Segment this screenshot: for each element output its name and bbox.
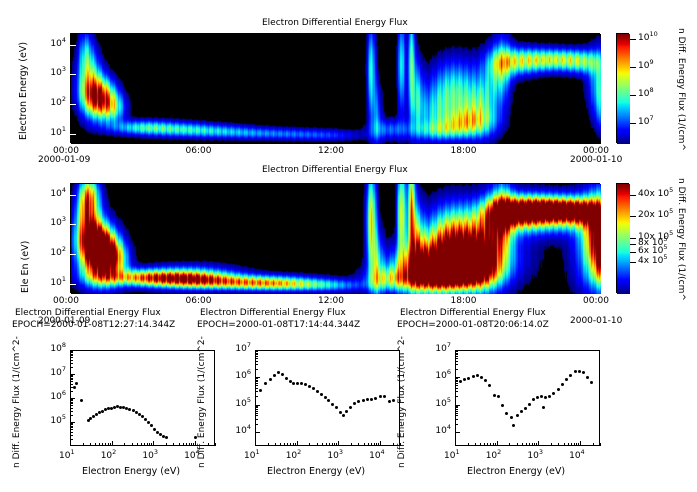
spectrum-1-ytick-minor xyxy=(255,409,258,410)
spectrum-2-ytick-minor xyxy=(455,396,458,397)
spectrum-1-point xyxy=(349,406,352,409)
spectrum-2-point xyxy=(505,412,508,415)
spectrum-2-point xyxy=(582,371,585,374)
spectrum-1-point xyxy=(362,399,365,402)
spectrum-1-xtick-minor xyxy=(268,443,269,446)
spectrum-2-xtick-0: 101 xyxy=(444,451,460,461)
spectrum-2-point xyxy=(488,384,491,387)
spectrum-2-point xyxy=(484,379,487,382)
spectrum-0-ytick-minor xyxy=(70,400,73,401)
panel-top-ytick-mark-1 xyxy=(70,74,76,75)
spectrum-0-xtick-minor xyxy=(102,443,103,446)
spectrum-0-xtick-minor xyxy=(83,443,84,446)
spectrum-2-xtick-mark-1 xyxy=(497,441,498,446)
spectrum-0-ytick-minor xyxy=(70,435,73,436)
spectrum-1-ytick-minor xyxy=(255,413,258,414)
spectrum-1-xtick-minor xyxy=(334,443,335,446)
spectrum-0-xtick-minor xyxy=(132,443,133,446)
panel-mid-cb-label-5: 4x 105 xyxy=(638,256,668,266)
panel-top-xtick-3: 18:00 xyxy=(451,146,477,156)
spectrum-2-xtick-mark-2 xyxy=(538,441,539,446)
spectrum-0-xtick-mark-2 xyxy=(153,441,154,446)
spectrum-0-point xyxy=(150,424,153,427)
spectrum-1-point xyxy=(331,403,334,406)
spectrum-0-ytick-2: 106 xyxy=(38,392,66,402)
spectrum-1-ytick-minor xyxy=(255,378,258,379)
panel-top-ytick-2: 102 xyxy=(40,98,66,108)
spectrum-1-ytick-minor xyxy=(255,385,258,386)
spectrum-2-ytick-minor xyxy=(455,424,458,425)
spectrum-1-point xyxy=(388,400,391,403)
spectrum-2-ytick-minor xyxy=(455,419,458,420)
panel-top-colorbar-label: n Diff. Energy Flux (1/(cm^ xyxy=(676,28,686,151)
spectrum-0-subtitle: EPOCH=2000-01-08T12:27:14.344Z xyxy=(12,320,175,330)
spectrum-2-ytick-minor xyxy=(455,354,458,355)
spectrum-0-xtick-2: 103 xyxy=(142,451,158,461)
spectrum-2-xtick-minor xyxy=(475,443,476,446)
spectrum-2-xtick-mark-3 xyxy=(580,441,581,446)
spectrum-1-ytick-0: 107 xyxy=(223,344,251,354)
panel-mid-xtick-2: 12:00 xyxy=(318,296,344,306)
spectrum-0-ytick-minor xyxy=(70,403,73,404)
spectrum-2-ytick-3: 104 xyxy=(423,426,451,436)
spectrum-1-point xyxy=(392,399,395,402)
spectrum-1-xtick-minor xyxy=(309,443,310,446)
panel-mid-cb-mark-4 xyxy=(630,252,636,253)
spectrum-0-xtick-minor xyxy=(141,443,142,446)
spectrum-0-point xyxy=(73,386,76,389)
spectrum-1-point xyxy=(292,382,295,385)
spectrum-0-xtick-minor xyxy=(110,443,111,446)
spectrum-0-ytick-1: 107 xyxy=(38,368,66,378)
spectrum-1-xtick-minor xyxy=(275,443,276,446)
spectrum-1-point xyxy=(304,383,307,386)
panel-mid-cb-mark-0 xyxy=(630,195,636,196)
spectrum-1-ytick-minor xyxy=(255,369,258,370)
spectrum-0-ytick-minor xyxy=(70,426,73,427)
spectrum-1-xtick-minor xyxy=(332,443,333,446)
spectrum-1-point xyxy=(277,371,280,374)
panel-top-ytick-mark-3 xyxy=(70,134,76,135)
spectrum-1-ytick-minor xyxy=(255,381,258,382)
spectrum-2-ytick-minor xyxy=(455,415,458,416)
spectrum-0-xtick-minor xyxy=(191,443,192,446)
spectrum-0-xtick-mark-3 xyxy=(195,441,196,446)
spectrum-2-xtick-minor xyxy=(532,443,533,446)
spectrum-2-xtick-minor xyxy=(495,443,496,446)
spectrum-0-xtick-minor xyxy=(166,443,167,446)
spectrum-2-point xyxy=(493,394,496,397)
spectrum-2-point xyxy=(565,378,568,381)
spectrum-2-point xyxy=(463,378,466,381)
spectrum-1-ytick-minor xyxy=(255,419,258,420)
spectrum-2-point xyxy=(501,404,504,407)
spectrum-1-ytick-minor xyxy=(255,353,258,354)
spectrum-2-xtick-minor xyxy=(551,443,552,446)
spectrum-1-point xyxy=(308,385,311,388)
spectrum-0-ytick-minor xyxy=(70,408,73,409)
spectrum-1-xtick-minor xyxy=(358,443,359,446)
spectrum-0-xtick-1: 102 xyxy=(101,451,117,461)
panel-mid-xtick-3: 18:00 xyxy=(451,296,477,306)
spectrum-1-xtick-minor xyxy=(351,443,352,446)
spectrum-1-ytick-mark-3 xyxy=(255,432,260,433)
spectrum-0-ytick-minor xyxy=(70,411,73,412)
spectrum-2-ytick-minor xyxy=(455,369,458,370)
spectrum-2-xtick-minor xyxy=(574,443,575,446)
spectrum-0-ytick-minor xyxy=(70,376,73,377)
spectrum-2-xtick-minor xyxy=(487,443,488,446)
spectrum-0-xtick-minor xyxy=(186,443,187,446)
spectrum-1-xtick-minor xyxy=(374,443,375,446)
spectrum-2-xtick-minor xyxy=(558,443,559,446)
spectrum-2-point xyxy=(528,403,531,406)
spectrum-2-point xyxy=(552,392,555,395)
spectrum-0-xtick-minor xyxy=(137,443,138,446)
spectrum-1-point xyxy=(327,399,330,402)
spectrum-2-plot-area xyxy=(455,350,600,446)
spectrum-0-xlabel: Electron Energy (eV) xyxy=(82,466,180,477)
spectrum-2-ytick-minor xyxy=(455,388,458,389)
panel-top-cb-label-0: 1010 xyxy=(638,33,658,43)
spectrum-2-point xyxy=(512,424,515,427)
panel-mid-cb-mark-3 xyxy=(630,244,636,245)
spectrum-2-ytick-minor xyxy=(455,409,458,410)
spectrum-1-ytick-minor xyxy=(255,406,258,407)
spectrum-0-ytick-minor xyxy=(70,423,73,424)
spectrum-1-xtick-minor xyxy=(326,443,327,446)
panel-mid-xtick-0: 00:00 xyxy=(53,296,79,306)
spectrum-2-point xyxy=(590,381,593,384)
spectrum-2-point xyxy=(476,374,479,377)
panel-top-colorbar-label-wrap: n Diff. Energy Flux (1/(cm^ xyxy=(686,28,697,38)
spectrum-1-xtick-mark-2 xyxy=(338,441,339,446)
spectrum-2-xtick-minor xyxy=(529,443,530,446)
spectrum-0-ytick-minor xyxy=(70,415,73,416)
spectrum-1-point xyxy=(269,378,272,381)
spectrum-2-ytick-minor xyxy=(455,391,458,392)
spectrum-0-ytick-minor xyxy=(70,424,73,425)
spectrum-1-point xyxy=(281,373,284,376)
spectrum-1-xtick-minor xyxy=(329,443,330,446)
panel-top-colorbar-gradient xyxy=(617,34,630,144)
spectrum-1-ytick-minor xyxy=(255,380,258,381)
spectrum-2-ytick-minor xyxy=(455,413,458,414)
spectrum-1-xtick-minor xyxy=(378,443,379,446)
spectrum-2-ytick-0: 107 xyxy=(423,344,451,354)
spectrum-2-xtick-minor xyxy=(484,443,485,446)
spectrum-0-xtick-minor xyxy=(90,443,91,446)
spectrum-0-ytick-minor xyxy=(70,379,73,380)
spectrum-2-xtick-mark-0 xyxy=(455,441,456,446)
spectrum-1-point xyxy=(366,398,369,401)
spectrum-1-xtick-minor xyxy=(284,443,285,446)
panel-mid-ytick-mark-1 xyxy=(70,224,76,225)
panel-mid: Electron Differential Energy Flux Ele En… xyxy=(0,165,697,320)
spectrum-0-ytick-minor xyxy=(70,391,73,392)
spectrum-1-title: Electron Differential Energy Flux xyxy=(200,308,346,318)
panel-top-cb-label-1: 109 xyxy=(638,61,654,71)
panel-mid-spectrogram xyxy=(71,184,601,294)
spectrum-0-ytick-minor xyxy=(70,360,73,361)
spectrum-1-ytick-minor xyxy=(255,354,258,355)
spectrum-2-point xyxy=(586,376,589,379)
panel-top-xdate-left: 2000-01-09 xyxy=(38,155,90,165)
spectrum-2-xtick-minor xyxy=(593,443,594,446)
spectrum-2-xtick-3: 104 xyxy=(569,451,585,461)
spectrum-1-ytick-1: 106 xyxy=(223,371,251,381)
spectrum-1-xtick-minor xyxy=(295,443,296,446)
panel-top-title: Electron Differential Energy Flux xyxy=(262,18,408,28)
spectrum-0-xtick-mark-1 xyxy=(112,441,113,446)
spectrum-0-xtick-minor xyxy=(173,443,174,446)
spectrum-2-ytick-minor xyxy=(455,411,458,412)
spectrum-2-ytick-minor xyxy=(455,380,458,381)
spectrum-1-ytick-minor xyxy=(255,351,258,352)
spectrum-1-xtick-1: 102 xyxy=(286,451,302,461)
spectrum-2-ytick-minor xyxy=(455,378,458,379)
panel-top-cb-label-2: 108 xyxy=(638,89,654,99)
spectrum-0-ytick-minor xyxy=(70,405,73,406)
spectrum-2-point xyxy=(510,416,513,419)
panel-mid-ytick-mark-0 xyxy=(70,195,76,196)
spectrum-0-ytick-minor xyxy=(70,427,73,428)
panel-mid-cb-label-1: 20x 105 xyxy=(638,210,673,220)
spectrum-2-ytick-minor xyxy=(455,407,458,408)
spectrum-1-point xyxy=(374,397,377,400)
spectrum-1-point xyxy=(342,414,345,417)
spectrum-2-point xyxy=(516,414,519,417)
spectrum-1-xtick-minor xyxy=(371,443,372,446)
spectrum-0-ytick-minor xyxy=(70,402,73,403)
spectrum-0-ytick-minor xyxy=(70,355,73,356)
spectrum-0-xtick-minor xyxy=(124,443,125,446)
spectrum-1-point xyxy=(335,406,338,409)
panel-top-cb-mark-3 xyxy=(630,123,636,124)
spectrum-0-ytick-minor xyxy=(70,367,73,368)
spectrum-0-ytick-minor xyxy=(70,384,73,385)
spectrum-2-point xyxy=(524,407,527,410)
spectrum-0-xtick-minor xyxy=(215,443,216,446)
panel-top-ytick-3: 101 xyxy=(40,128,66,138)
spectrum-1-ytick-minor xyxy=(255,361,258,362)
panel-mid-xtick-1: 06:00 xyxy=(186,296,212,306)
spectrum-0-ytick-minor xyxy=(70,354,73,355)
spectrum-0-ytick-minor xyxy=(70,399,73,400)
spectrum-0-point xyxy=(165,436,168,439)
spectrum-2-xtick-2: 103 xyxy=(527,451,543,461)
spectrum-0-xtick-minor xyxy=(95,443,96,446)
spectrum-0-xtick-minor xyxy=(147,443,148,446)
spectra-row: Electron Differential Energy FluxEPOCH=2… xyxy=(0,320,697,492)
spectrum-1-xtick-minor xyxy=(290,443,291,446)
spectrum-2-xtick-minor xyxy=(480,443,481,446)
spectrum-0-xtick-minor xyxy=(105,443,106,446)
panel-top-ytick-1: 103 xyxy=(40,68,66,78)
spectrum-0-ytick-3: 105 xyxy=(38,416,66,426)
panel-top-xtick-2: 12:00 xyxy=(318,146,344,156)
panel-top-cb-label-3: 107 xyxy=(638,117,654,127)
spectrum-2-xtick-1: 102 xyxy=(486,451,502,461)
spectrum-2-subtitle: EPOCH=2000-01-08T20:06:14.0Z xyxy=(397,320,549,330)
spectrum-1-point xyxy=(345,410,348,413)
spectrum-2-ytick-1: 106 xyxy=(423,371,451,381)
panel-mid-plot-area xyxy=(70,183,600,293)
panel-top-ytick-mark-0 xyxy=(70,45,76,46)
spectrum-0-point xyxy=(147,421,150,424)
spectrum-2-point xyxy=(557,388,560,391)
panel-mid-colorbar-label-wrap: n Diff. Energy Flux (1/(cm^ xyxy=(686,178,697,188)
spectrum-2-xlabel: Electron Energy (eV) xyxy=(467,466,565,477)
spectrum-2-point xyxy=(532,398,535,401)
panel-mid-ytick-mark-3 xyxy=(70,284,76,285)
spectrum-1-xtick-minor xyxy=(336,443,337,446)
spectrum-2-title: Electron Differential Energy Flux xyxy=(400,308,546,318)
spectrum-0-xtick-minor xyxy=(144,443,145,446)
spectrum-1-point xyxy=(383,395,386,398)
spectrum-1-xtick-3: 104 xyxy=(369,451,385,461)
spectrum-2-ytick-minor xyxy=(455,406,458,407)
spectrum-1-ytick-minor xyxy=(255,358,258,359)
spectrum-1-point xyxy=(296,382,299,385)
spectrum-1-ytick-minor xyxy=(255,415,258,416)
spectrum-2-ytick-mark-3 xyxy=(455,432,460,433)
spectrum-2-point xyxy=(561,383,564,386)
spectrum-0-ytick-minor xyxy=(70,387,73,388)
panel-top-ytick-mark-2 xyxy=(70,104,76,105)
panel-mid-cb-mark-1 xyxy=(630,216,636,217)
spectrum-2-xtick-minor xyxy=(536,443,537,446)
spectrum-1-ytick-minor xyxy=(255,388,258,389)
spectrum-0-xtick-minor xyxy=(99,443,100,446)
spectrum-1-xtick-minor xyxy=(368,443,369,446)
spectrum-1-xlabel: Electron Energy (eV) xyxy=(267,466,365,477)
spectrum-0-title: Electron Differential Energy Flux xyxy=(15,308,161,318)
spectrum-2-point xyxy=(574,370,577,373)
panel-top-spectrogram xyxy=(71,34,601,144)
spectrum-1-point xyxy=(264,382,267,385)
spectrum-0-point xyxy=(80,399,83,402)
spectrum-1-xtick-mark-3 xyxy=(380,441,381,446)
panel-mid-xtick-4: 00:00 xyxy=(583,296,609,306)
spectrum-1-xtick-minor xyxy=(322,443,323,446)
spectrum-2-point xyxy=(544,396,547,399)
spectrum-2-point xyxy=(480,376,483,379)
spectrum-1-xtick-minor xyxy=(293,443,294,446)
panel-top-cb-mark-1 xyxy=(630,67,636,68)
spectrum-2-point xyxy=(472,375,475,378)
spectrum-2-xtick-minor xyxy=(493,443,494,446)
panel-mid-cb-mark-5 xyxy=(630,262,636,263)
spectrum-2-xtick-minor xyxy=(600,443,601,446)
panel-mid-colorbar-label: n Diff. Energy Flux (1/(cm^ xyxy=(676,178,686,301)
spectrum-0-ytick-minor xyxy=(70,357,73,358)
spectrum-2-xtick-minor xyxy=(526,443,527,446)
spectrum-2-ylabel: n Diff. Energy Flux (1/(cm^2- xyxy=(397,336,407,468)
spectrum-1-ytick-minor xyxy=(255,391,258,392)
panel-mid-colorbar xyxy=(616,183,629,293)
spectrum-1-ytick-minor xyxy=(255,424,258,425)
panel-mid-cb-label-0: 40x 105 xyxy=(638,189,673,199)
spectrum-0-xtick-minor xyxy=(189,443,190,446)
spectrum-2-point xyxy=(497,395,500,398)
spectrum-2-ytick-minor xyxy=(455,385,458,386)
spectrum-1-ylabel: n Diff. Energy Flux (1/(cm^2- xyxy=(197,336,207,468)
panel-mid-ylabel: Ele En (eV) xyxy=(20,241,31,293)
spectrum-2-point xyxy=(459,380,462,383)
spectrum-2-xtick-minor xyxy=(564,443,565,446)
spectrum-1-ytick-2: 105 xyxy=(223,399,251,409)
spectrum-1-xtick-minor xyxy=(317,443,318,446)
spectrum-0-ytick-minor xyxy=(70,439,73,440)
spectrum-0-xtick-minor xyxy=(193,443,194,446)
panel-mid-ytick-1: 103 xyxy=(40,218,66,228)
spectrum-1-point xyxy=(259,389,262,392)
spectrum-2-xtick-minor xyxy=(571,443,572,446)
spectrum-1-point xyxy=(370,398,373,401)
spectrum-1-ytick-minor xyxy=(255,396,258,397)
spectrum-1-point xyxy=(316,390,319,393)
spectrum-1-ytick-minor xyxy=(255,411,258,412)
spectrum-2-point xyxy=(540,395,543,398)
panel-mid-cb-mark-2 xyxy=(630,238,636,239)
spectrum-2-point xyxy=(548,395,551,398)
spectrum-1-xtick-minor xyxy=(393,443,394,446)
panel-mid-ytick-2: 102 xyxy=(40,248,66,258)
spectrum-0-xtick-minor xyxy=(149,443,150,446)
spectrum-2-ytick-minor xyxy=(455,353,458,354)
spectrum-0-ytick-minor xyxy=(70,351,73,352)
spectrum-0-xtick-minor xyxy=(151,443,152,446)
spectrum-2-xtick-minor xyxy=(468,443,469,446)
panel-top-ylabel: Electron Energy (eV) xyxy=(18,42,29,140)
spectrum-2-ytick-minor xyxy=(455,351,458,352)
spectrum-0-point xyxy=(144,418,147,421)
spectrum-2-xtick-minor xyxy=(534,443,535,446)
panel-mid-ytick-0: 104 xyxy=(40,189,66,199)
spectrum-2-ytick-minor xyxy=(455,358,458,359)
panel-top-xdate-right: 2000-01-10 xyxy=(570,155,622,165)
panel-top-xtick-1: 06:00 xyxy=(186,146,212,156)
spectrum-0-ytick-minor xyxy=(70,363,73,364)
spectrum-0-plot-area xyxy=(70,350,215,446)
spectrum-1-point xyxy=(357,400,360,403)
panel-mid-ytick-mark-2 xyxy=(70,254,76,255)
spectrum-1-xtick-2: 103 xyxy=(327,451,343,461)
spectrum-2-point xyxy=(467,377,470,380)
panel-top-colorbar xyxy=(616,33,629,143)
spectrum-2-xtick-minor xyxy=(509,443,510,446)
spectrum-2-point xyxy=(569,374,572,377)
panel-top: Electron Differential Energy Flux Electr… xyxy=(0,0,697,165)
spectrum-1-subtitle: EPOCH=2000-01-08T17:14:44.344Z xyxy=(197,320,360,330)
spectrum-2-point xyxy=(520,410,523,413)
panel-mid-ytick-3: 101 xyxy=(40,278,66,288)
spectrum-0-ytick-minor xyxy=(70,378,73,379)
spectrum-1-point xyxy=(379,395,382,398)
spectrum-0-ytick-minor xyxy=(70,429,73,430)
panel-top-ytick-0: 104 xyxy=(40,39,66,49)
spectrum-1-xtick-mark-1 xyxy=(297,441,298,446)
spectrum-0-xtick-minor xyxy=(183,443,184,446)
spectrum-0-xtick-0: 101 xyxy=(59,451,75,461)
spectrum-2-xtick-minor xyxy=(576,443,577,446)
spectrum-1-plot-area xyxy=(255,350,400,446)
spectrum-0-ytick-minor xyxy=(70,432,73,433)
spectrum-1-xtick-minor xyxy=(280,443,281,446)
spectrum-2-xtick-minor xyxy=(517,443,518,446)
spectrum-1-point xyxy=(285,377,288,380)
